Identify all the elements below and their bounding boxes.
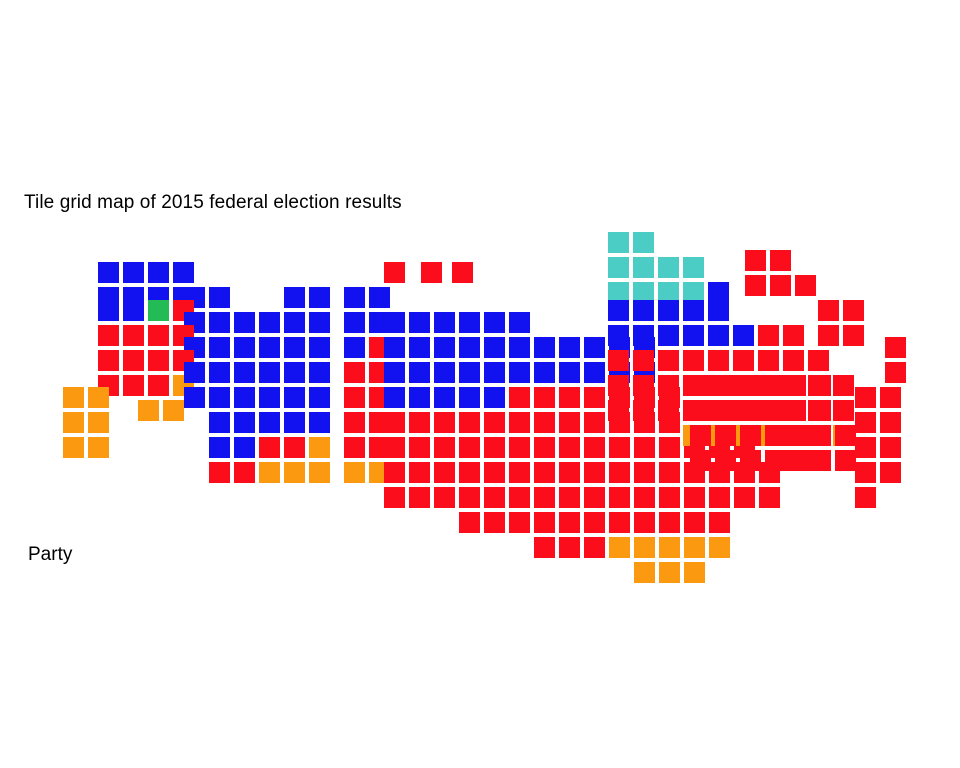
riding-tile	[173, 262, 194, 283]
riding-tile	[708, 300, 729, 321]
riding-tile	[309, 387, 330, 408]
riding-tile	[855, 437, 876, 458]
riding-tile	[234, 387, 255, 408]
riding-tile	[534, 512, 555, 533]
riding-tile	[745, 250, 766, 271]
riding-tile	[459, 437, 480, 458]
riding-tile	[344, 387, 365, 408]
riding-tile	[509, 512, 530, 533]
riding-tile	[584, 387, 605, 408]
riding-tile	[885, 337, 906, 358]
riding-tile	[123, 325, 144, 346]
riding-tile	[384, 262, 405, 283]
riding-tile	[509, 462, 530, 483]
riding-tile	[209, 412, 230, 433]
riding-tile	[608, 400, 629, 421]
riding-tile	[209, 312, 230, 333]
riding-tile	[559, 512, 580, 533]
riding-tile	[659, 462, 680, 483]
riding-tile	[785, 450, 806, 471]
riding-tile	[459, 412, 480, 433]
riding-tile	[259, 412, 280, 433]
riding-tile	[259, 462, 280, 483]
riding-tile	[659, 487, 680, 508]
riding-tile	[148, 325, 169, 346]
riding-tile	[459, 337, 480, 358]
riding-tile	[309, 337, 330, 358]
riding-tile	[234, 337, 255, 358]
riding-tile	[818, 325, 839, 346]
riding-tile	[259, 337, 280, 358]
riding-tile	[633, 257, 654, 278]
riding-tile	[123, 350, 144, 371]
riding-tile	[659, 512, 680, 533]
riding-tile	[810, 375, 831, 396]
riding-tile	[209, 387, 230, 408]
riding-tile	[690, 450, 711, 471]
riding-tile	[309, 462, 330, 483]
riding-tile	[634, 512, 655, 533]
riding-tile	[684, 487, 705, 508]
riding-tile	[880, 437, 901, 458]
riding-tile	[138, 400, 159, 421]
riding-tile	[709, 537, 730, 558]
riding-tile	[148, 300, 169, 321]
riding-tile	[783, 325, 804, 346]
riding-tile	[98, 300, 119, 321]
riding-tile	[369, 287, 390, 308]
riding-tile	[209, 362, 230, 383]
riding-tile	[765, 450, 786, 471]
riding-tile	[234, 462, 255, 483]
riding-tile	[309, 312, 330, 333]
riding-tile	[683, 300, 704, 321]
riding-tile	[344, 337, 365, 358]
riding-tile	[690, 400, 711, 421]
riding-tile	[855, 462, 876, 483]
riding-tile	[309, 287, 330, 308]
riding-tile	[409, 412, 430, 433]
riding-tile	[309, 437, 330, 458]
riding-tile	[584, 362, 605, 383]
riding-tile	[434, 487, 455, 508]
riding-tile	[484, 462, 505, 483]
riding-tile	[534, 387, 555, 408]
riding-tile	[634, 487, 655, 508]
riding-tile	[163, 400, 184, 421]
riding-tile	[148, 262, 169, 283]
riding-tile	[808, 350, 829, 371]
riding-tile	[484, 387, 505, 408]
riding-tile	[434, 437, 455, 458]
riding-tile	[634, 437, 655, 458]
riding-tile	[559, 412, 580, 433]
riding-tile	[284, 337, 305, 358]
riding-tile	[559, 537, 580, 558]
riding-tile	[818, 300, 839, 321]
riding-tile	[459, 312, 480, 333]
legend: Party	[28, 542, 86, 568]
riding-tile	[384, 412, 405, 433]
riding-tile	[709, 487, 730, 508]
legend-title: Party	[28, 544, 72, 566]
riding-tile	[123, 375, 144, 396]
riding-tile	[708, 350, 729, 371]
riding-tile	[98, 350, 119, 371]
riding-tile	[459, 512, 480, 533]
riding-tile	[409, 362, 430, 383]
riding-tile	[309, 362, 330, 383]
riding-tile	[484, 512, 505, 533]
riding-tile	[559, 487, 580, 508]
riding-tile	[534, 412, 555, 433]
riding-tile	[234, 312, 255, 333]
riding-tile	[344, 362, 365, 383]
riding-tile	[534, 462, 555, 483]
riding-tile	[855, 412, 876, 433]
riding-tile	[659, 537, 680, 558]
riding-tile	[715, 375, 736, 396]
riding-tile	[484, 437, 505, 458]
riding-tile	[810, 450, 831, 471]
riding-tile	[509, 437, 530, 458]
riding-tile	[765, 400, 786, 421]
riding-tile	[509, 362, 530, 383]
riding-tile	[634, 462, 655, 483]
riding-tile	[584, 487, 605, 508]
riding-tile	[684, 562, 705, 583]
riding-tile	[309, 412, 330, 433]
riding-tile	[785, 400, 806, 421]
riding-tile	[344, 437, 365, 458]
riding-tile	[584, 537, 605, 558]
riding-tile	[284, 287, 305, 308]
riding-tile	[795, 275, 816, 296]
riding-tile	[284, 362, 305, 383]
riding-tile	[785, 425, 806, 446]
riding-tile	[344, 287, 365, 308]
riding-tile	[459, 387, 480, 408]
riding-tile	[409, 437, 430, 458]
riding-tile	[384, 387, 405, 408]
riding-tile	[715, 425, 736, 446]
riding-tile	[658, 325, 679, 346]
riding-tile	[384, 312, 405, 333]
riding-tile	[690, 425, 711, 446]
riding-tile	[584, 437, 605, 458]
riding-tile	[344, 412, 365, 433]
riding-tile	[745, 275, 766, 296]
riding-tile	[658, 350, 679, 371]
riding-tile	[534, 537, 555, 558]
riding-tile	[534, 362, 555, 383]
riding-tile	[584, 337, 605, 358]
riding-tile	[633, 350, 654, 371]
riding-tile	[98, 262, 119, 283]
riding-tile	[855, 487, 876, 508]
riding-tile	[284, 312, 305, 333]
riding-tile	[843, 325, 864, 346]
riding-tile	[434, 312, 455, 333]
riding-tile	[459, 487, 480, 508]
riding-tile	[234, 437, 255, 458]
riding-tile	[810, 425, 831, 446]
riding-tile	[434, 462, 455, 483]
riding-tile	[459, 362, 480, 383]
riding-tile	[559, 462, 580, 483]
riding-tile	[284, 462, 305, 483]
riding-tile	[609, 512, 630, 533]
riding-tile	[609, 462, 630, 483]
riding-tile	[559, 437, 580, 458]
riding-tile	[534, 337, 555, 358]
riding-tile	[765, 425, 786, 446]
riding-tile	[733, 350, 754, 371]
riding-tile	[484, 312, 505, 333]
riding-tile	[409, 337, 430, 358]
riding-tile	[833, 400, 854, 421]
riding-tile	[765, 375, 786, 396]
riding-tile	[715, 450, 736, 471]
riding-tile	[709, 512, 730, 533]
riding-tile	[384, 462, 405, 483]
riding-tile	[783, 350, 804, 371]
riding-tile	[609, 487, 630, 508]
riding-tile	[885, 362, 906, 383]
riding-tile	[88, 387, 109, 408]
riding-tile	[123, 262, 144, 283]
riding-tile	[534, 437, 555, 458]
riding-tile	[209, 437, 230, 458]
riding-tile	[259, 387, 280, 408]
riding-tile	[284, 412, 305, 433]
riding-tile	[484, 362, 505, 383]
riding-tile	[434, 387, 455, 408]
riding-tile	[759, 487, 780, 508]
riding-tile	[259, 312, 280, 333]
riding-tile	[459, 462, 480, 483]
riding-tile	[608, 300, 629, 321]
riding-tile	[63, 412, 84, 433]
riding-tile	[734, 487, 755, 508]
riding-tile	[855, 387, 876, 408]
riding-tile	[659, 562, 680, 583]
riding-tile	[384, 487, 405, 508]
riding-tile	[421, 262, 442, 283]
riding-tile	[452, 262, 473, 283]
riding-tile	[740, 400, 761, 421]
riding-tile	[683, 325, 704, 346]
riding-tile	[534, 487, 555, 508]
riding-tile	[758, 325, 779, 346]
riding-tile	[484, 412, 505, 433]
riding-tile	[259, 362, 280, 383]
riding-tile	[633, 375, 654, 396]
riding-tile	[148, 375, 169, 396]
riding-tile	[733, 325, 754, 346]
riding-tile	[384, 337, 405, 358]
riding-tile	[608, 350, 629, 371]
riding-tile	[683, 257, 704, 278]
riding-tile	[633, 400, 654, 421]
riding-tile	[98, 325, 119, 346]
riding-tile	[409, 387, 430, 408]
riding-tile	[484, 487, 505, 508]
riding-tile	[63, 387, 84, 408]
riding-tile	[658, 400, 679, 421]
riding-tile	[770, 250, 791, 271]
riding-tile	[484, 337, 505, 358]
riding-tile	[63, 437, 84, 458]
riding-tile	[770, 275, 791, 296]
riding-tile	[785, 375, 806, 396]
riding-tile	[509, 387, 530, 408]
chart-canvas: Tile grid map of 2015 federal election r…	[0, 0, 960, 768]
riding-tile	[409, 312, 430, 333]
riding-tile	[234, 362, 255, 383]
riding-tile	[608, 375, 629, 396]
tile-grid-map	[0, 0, 960, 768]
riding-tile	[708, 325, 729, 346]
riding-tile	[409, 462, 430, 483]
riding-tile	[184, 362, 205, 383]
riding-tile	[584, 512, 605, 533]
riding-tile	[434, 412, 455, 433]
riding-tile	[659, 437, 680, 458]
riding-tile	[683, 350, 704, 371]
riding-tile	[148, 350, 169, 371]
riding-tile	[609, 537, 630, 558]
riding-tile	[880, 387, 901, 408]
riding-tile	[634, 562, 655, 583]
riding-tile	[880, 412, 901, 433]
riding-tile	[509, 337, 530, 358]
riding-tile	[384, 362, 405, 383]
riding-tile	[509, 412, 530, 433]
riding-tile	[559, 387, 580, 408]
riding-tile	[509, 487, 530, 508]
riding-tile	[833, 375, 854, 396]
riding-tile	[559, 337, 580, 358]
riding-tile	[434, 337, 455, 358]
riding-tile	[690, 375, 711, 396]
riding-tile	[608, 257, 629, 278]
riding-tile	[740, 425, 761, 446]
riding-tile	[608, 325, 629, 346]
riding-tile	[810, 400, 831, 421]
riding-tile	[384, 437, 405, 458]
riding-tile	[633, 325, 654, 346]
riding-tile	[835, 450, 856, 471]
riding-tile	[123, 300, 144, 321]
riding-tile	[633, 232, 654, 253]
riding-tile	[259, 437, 280, 458]
riding-tile	[715, 400, 736, 421]
riding-tile	[88, 437, 109, 458]
riding-tile	[633, 300, 654, 321]
riding-tile	[584, 412, 605, 433]
riding-tile	[284, 387, 305, 408]
riding-tile	[88, 412, 109, 433]
riding-tile	[658, 300, 679, 321]
riding-tile	[344, 462, 365, 483]
riding-tile	[740, 450, 761, 471]
riding-tile	[684, 537, 705, 558]
riding-tile	[758, 350, 779, 371]
riding-tile	[409, 487, 430, 508]
riding-tile	[584, 462, 605, 483]
riding-tile	[740, 375, 761, 396]
riding-tile	[658, 375, 679, 396]
riding-tile	[209, 287, 230, 308]
riding-tile	[684, 512, 705, 533]
riding-tile	[209, 337, 230, 358]
riding-tile	[184, 387, 205, 408]
riding-tile	[434, 362, 455, 383]
riding-tile	[344, 312, 365, 333]
riding-tile	[509, 312, 530, 333]
riding-tile	[835, 425, 856, 446]
riding-tile	[284, 437, 305, 458]
riding-tile	[609, 437, 630, 458]
riding-tile	[880, 462, 901, 483]
riding-tile	[843, 300, 864, 321]
riding-tile	[559, 362, 580, 383]
riding-tile	[658, 257, 679, 278]
riding-tile	[234, 412, 255, 433]
riding-tile	[634, 537, 655, 558]
riding-tile	[608, 232, 629, 253]
riding-tile	[209, 462, 230, 483]
